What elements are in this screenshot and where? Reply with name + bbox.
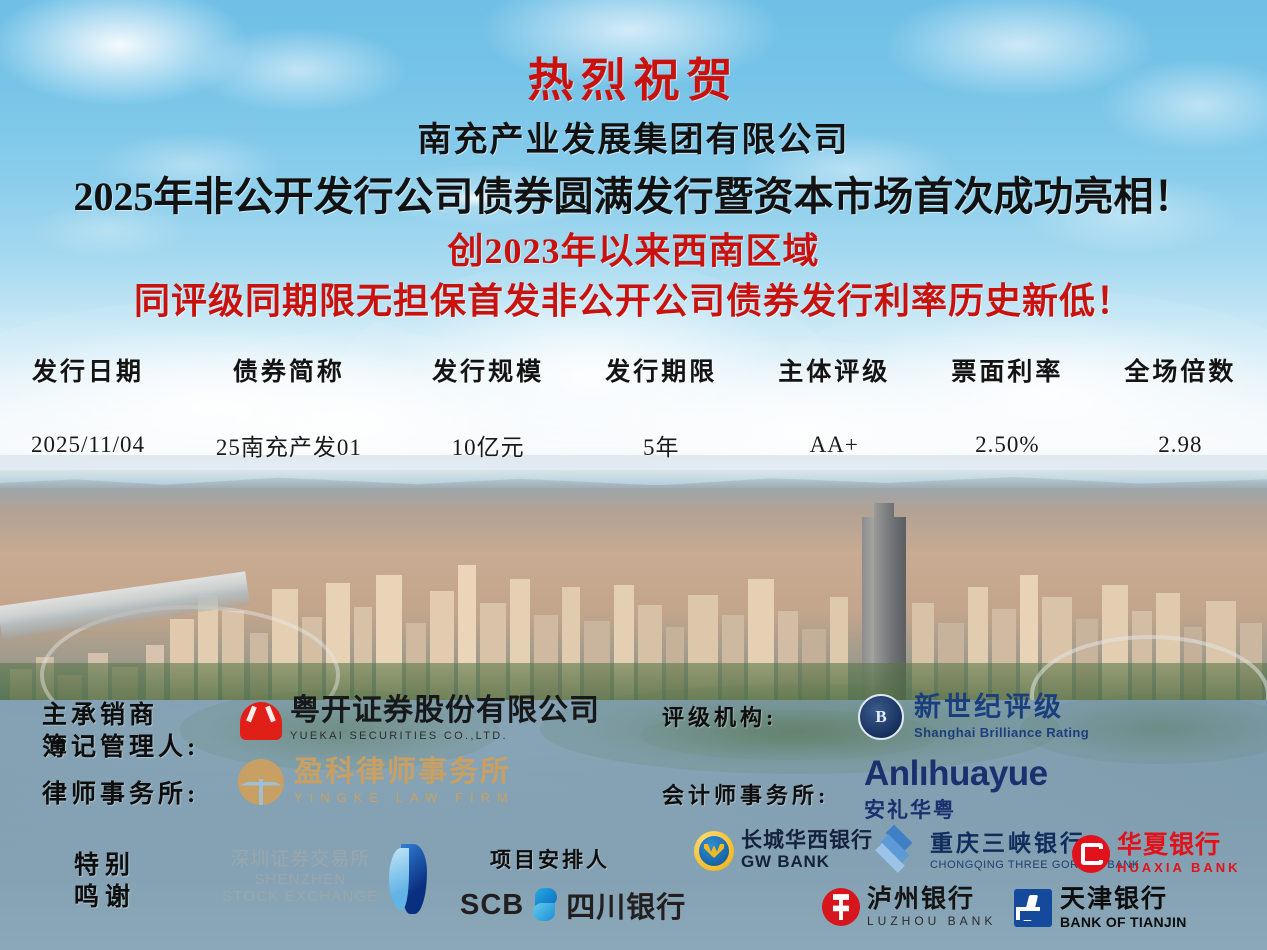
scb-abbr: SCB: [460, 889, 524, 922]
table-header-row: 发行日期 债券简称 发行规模 发行期限 主体评级 票面利率 全场倍数: [0, 348, 1267, 428]
bank-logo-luzhou: 泸州银行 LUZHOU BANK: [822, 886, 996, 928]
tianjin-name-cn: 天津银行: [1060, 886, 1187, 912]
column-header-issue-date: 发行日期: [0, 348, 176, 428]
accountant-name-en: Anlıhuayue: [864, 756, 1048, 791]
stock-exchange-name-cn: 深圳证券交易所: [230, 850, 370, 871]
law-firm-logo: 盈科律师事务所 YINGKE LAW FIRM: [238, 758, 515, 805]
rating-agency-logo: B 新世纪评级 Shanghai Brilliance Rating: [858, 694, 1089, 740]
bank-logo-huaxia: 华夏银行 HUAXIA BANK: [1072, 832, 1241, 875]
cell-coupon-rate: 2.50%: [921, 428, 1094, 468]
special-thanks-label: 特别 鸣谢: [74, 850, 136, 914]
underwriter-label-line2: 簿记管理人:: [42, 732, 199, 764]
headline-record-line1: 创2023年以来西南区域: [0, 222, 1267, 274]
brilliance-seal-letter: B: [875, 707, 886, 727]
table-row: 2025/11/04 25南充产发01 10亿元 5年 AA+ 2.50% 2.…: [0, 428, 1267, 468]
underwriter-label: 主承销商 簿记管理人:: [42, 700, 199, 764]
headline-achievement: 2025年非公开发行公司债券圆满发行暨资本市场首次成功亮相！: [0, 164, 1267, 222]
column-header-bond-name: 债券简称: [176, 348, 402, 428]
special-thanks-line1: 特别: [74, 850, 136, 882]
road-band: [0, 470, 1267, 488]
congratulation-title: 热烈祝贺: [0, 44, 1267, 110]
stock-exchange-logo: 深圳证券交易所 SHENZHEN STOCK EXCHANGE: [222, 842, 429, 916]
congratulation-poster: 热烈祝贺 南充产业发展集团有限公司 2025年非公开发行公司债券圆满发行暨资本市…: [0, 0, 1267, 950]
yingke-cube-icon: [238, 759, 284, 805]
tianjin-logo-icon: [1014, 889, 1052, 927]
arranger-label: 项目安排人: [490, 844, 610, 874]
cell-subscription-multiple: 2.98: [1094, 428, 1267, 468]
anlihuayue-logo-icon: Anlıhuayue 安礼华粤: [864, 756, 1048, 824]
stock-exchange-name-en-line2: STOCK EXCHANGE: [222, 888, 379, 905]
cell-tenor: 5年: [575, 428, 748, 468]
law-firm-name-en: YINGKE LAW FIRM: [294, 790, 515, 805]
column-header-subscription-multiple: 全场倍数: [1094, 348, 1267, 428]
gwbank-name-en: GW BANK: [741, 852, 873, 872]
cell-issuer-rating: AA+: [748, 428, 921, 468]
luzhou-name-en: LUZHOU BANK: [867, 914, 996, 928]
cell-issue-date: 2025/11/04: [0, 428, 176, 468]
column-header-tenor: 发行期限: [575, 348, 748, 428]
gwbank-logo-icon: [694, 831, 734, 871]
underwriter-logo: 粤开证券股份有限公司 YUEKAI SECURITIES CO.,LTD.: [240, 696, 600, 742]
issuer-company-name: 南充产业发展集团有限公司: [0, 112, 1267, 161]
rating-agency-label: 评级机构:: [662, 700, 777, 732]
underwriter-label-line1: 主承销商: [42, 700, 199, 732]
scb-logo-icon: [531, 888, 559, 922]
cell-bond-name: 25南充产发01: [176, 428, 402, 468]
bank-logo-gwbank: 长城华西银行 GW BANK: [694, 830, 873, 872]
accountant-logo: Anlıhuayue 安礼华粤: [864, 756, 1048, 824]
column-header-issuer-rating: 主体评级: [748, 348, 921, 428]
szse-logo-icon: [383, 842, 429, 916]
luzhou-logo-icon: [822, 888, 860, 926]
tianjin-name-en: BANK OF TIANJIN: [1060, 914, 1187, 930]
huaxia-name-cn: 华夏银行: [1117, 832, 1241, 858]
underwriter-name-en: YUEKAI SECURITIES CO.,LTD.: [290, 730, 600, 742]
law-firm-label: 律师事务所:: [42, 774, 199, 810]
yuekai-logo-icon: [240, 698, 282, 740]
brilliance-seal-icon: B: [858, 694, 904, 740]
accountant-name-cn: 安礼华粤: [864, 794, 1048, 824]
stock-exchange-name-en-line1: SHENZHEN: [254, 871, 346, 888]
huaxia-name-en: HUAXIA BANK: [1117, 860, 1241, 875]
huaxia-logo-icon: [1072, 835, 1110, 873]
underwriter-name-cn: 粤开证券股份有限公司: [290, 696, 600, 726]
column-header-coupon-rate: 票面利率: [921, 348, 1094, 428]
gwbank-name-cn: 长城华西银行: [741, 830, 873, 852]
law-firm-name-cn: 盈科律师事务所: [294, 758, 515, 787]
cqtgb-logo-icon: [872, 834, 924, 870]
column-header-issue-size: 发行规模: [402, 348, 575, 428]
cell-issue-size: 10亿元: [402, 428, 575, 468]
scb-name-cn: 四川银行: [566, 884, 686, 926]
rating-agency-name-cn: 新世纪评级: [914, 694, 1089, 721]
bond-summary-table: 发行日期 债券简称 发行规模 发行期限 主体评级 票面利率 全场倍数 2025/…: [0, 348, 1267, 468]
bank-logo-tianjin: 天津银行 BANK OF TIANJIN: [1014, 886, 1187, 930]
headline-record-line2: 同评级同期限无担保首发非公开公司债券发行利率历史新低！: [0, 272, 1267, 324]
rating-agency-name-en: Shanghai Brilliance Rating: [914, 725, 1089, 740]
bank-logo-scb: SCB 四川银行: [460, 884, 686, 926]
accountant-label: 会计师事务所:: [662, 778, 829, 810]
luzhou-name-cn: 泸州银行: [867, 886, 996, 912]
special-thanks-line2: 鸣谢: [74, 882, 136, 914]
